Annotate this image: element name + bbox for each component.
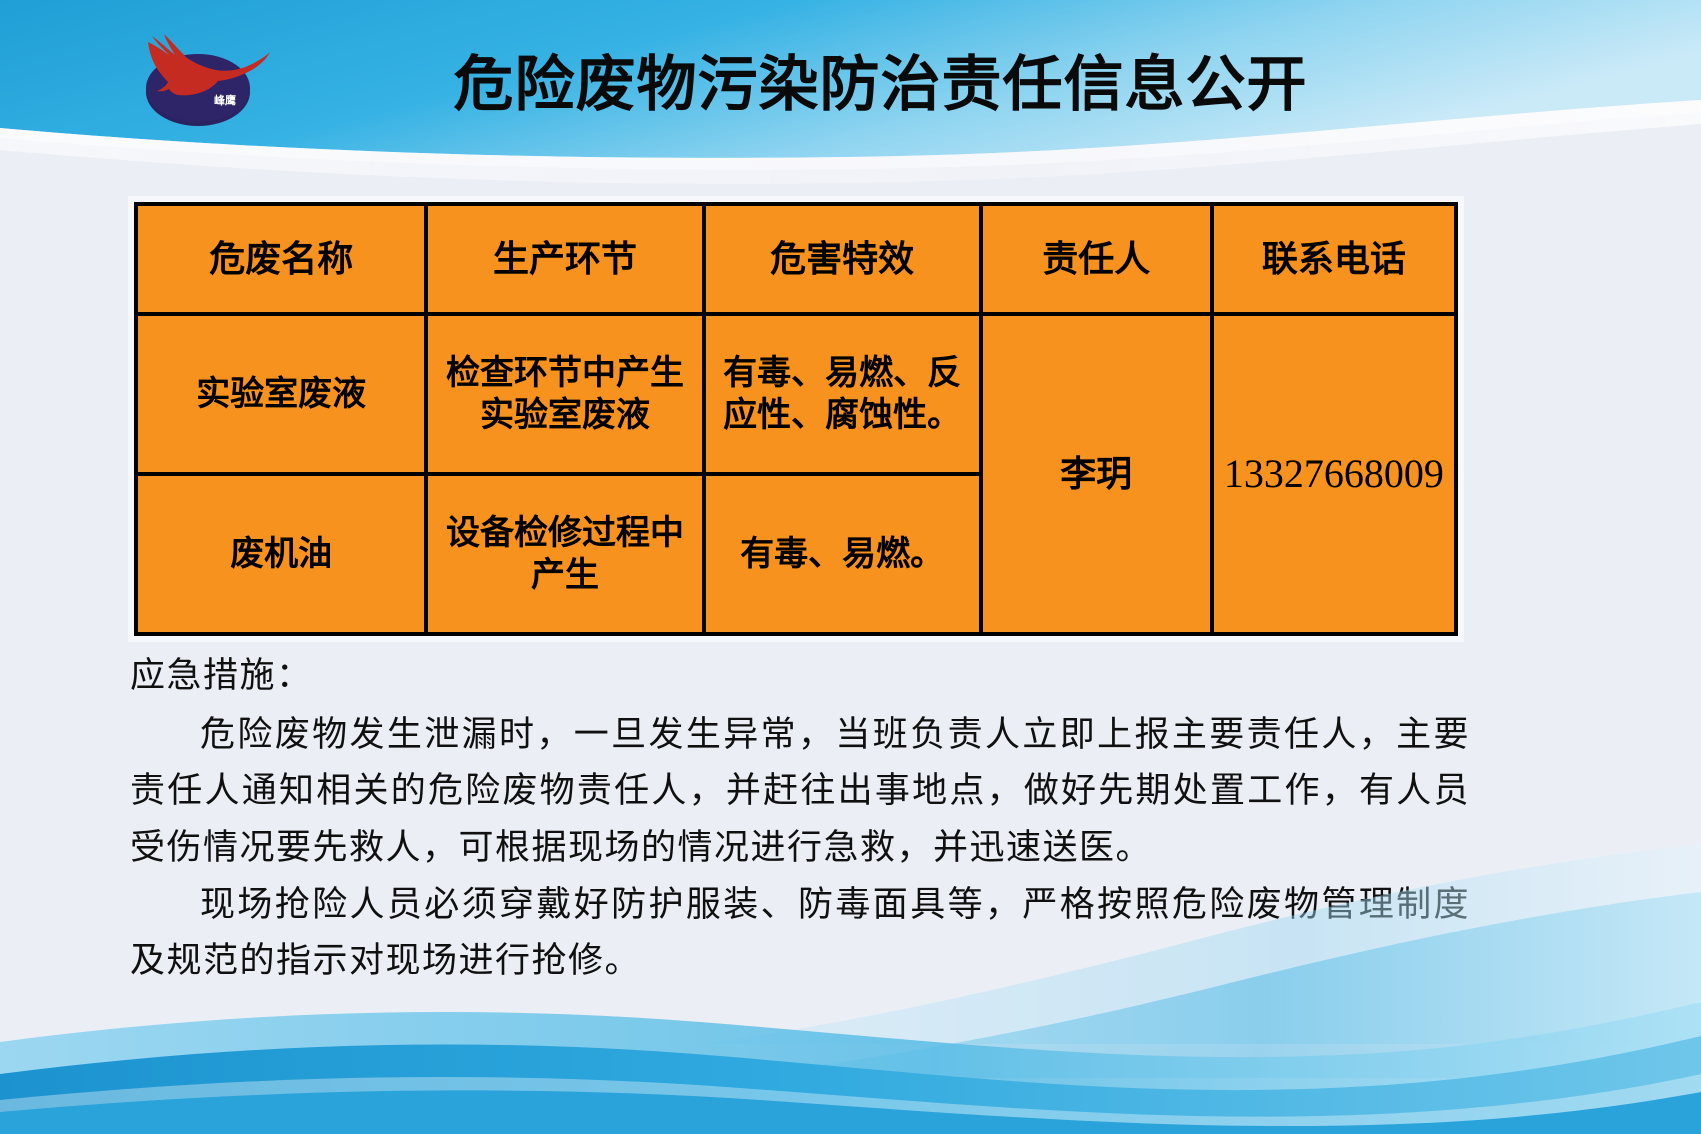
cell-contact-phone: 13327668009 [1212, 314, 1456, 634]
table-header-row: 危废名称 生产环节 危害特效 责任人 联系电话 [136, 204, 1456, 314]
hazardous-waste-table-panel: 危废名称 生产环节 危害特效 责任人 联系电话 实验室废液 检查环节中产生实验室… [128, 196, 1464, 642]
cell-production-stage-1: 检查环节中产生实验室废液 [426, 314, 703, 474]
cell-waste-name-2: 废机油 [136, 474, 426, 634]
cell-hazard-effect-2: 有毒、易燃。 [704, 474, 981, 634]
table-row: 实验室废液 检查环节中产生实验室废液 有毒、易燃、反应性、腐蚀性。 李玥 133… [136, 314, 1456, 474]
cell-waste-name-1: 实验室废液 [136, 314, 426, 474]
hazardous-waste-table: 危废名称 生产环节 危害特效 责任人 联系电话 实验室废液 检查环节中产生实验室… [134, 202, 1458, 636]
column-header-hazard-effect: 危害特效 [704, 204, 981, 314]
column-header-production-stage: 生产环节 [426, 204, 703, 314]
emergency-measures-section: 应急措施： 危险废物发生泄漏时，一旦发生异常，当班负责人立即上报主要责任人，主要… [130, 648, 1470, 990]
column-header-contact-phone: 联系电话 [1212, 204, 1456, 314]
column-header-waste-name: 危废名称 [136, 204, 426, 314]
cell-production-stage-2: 设备检修过程中产生 [426, 474, 703, 634]
cell-responsible-person: 李玥 [981, 314, 1212, 634]
slide-root: 峰鹰 危险废物污染防治责任信息公开 危废名称 生产环节 危害特效 责任人 联系电… [0, 0, 1701, 1134]
emergency-paragraph-2: 现场抢险人员必须穿戴好防护服装、防毒面具等，严格按照危险废物管理制度及规范的指示… [130, 877, 1470, 990]
page-title: 危险废物污染防治责任信息公开 [0, 52, 1701, 118]
cell-hazard-effect-1: 有毒、易燃、反应性、腐蚀性。 [704, 314, 981, 474]
emergency-measures-heading: 应急措施： [130, 648, 1470, 705]
column-header-responsible-person: 责任人 [981, 204, 1212, 314]
emergency-paragraph-1: 危险废物发生泄漏时，一旦发生异常，当班负责人立即上报主要责任人，主要责任人通知相… [130, 707, 1470, 877]
